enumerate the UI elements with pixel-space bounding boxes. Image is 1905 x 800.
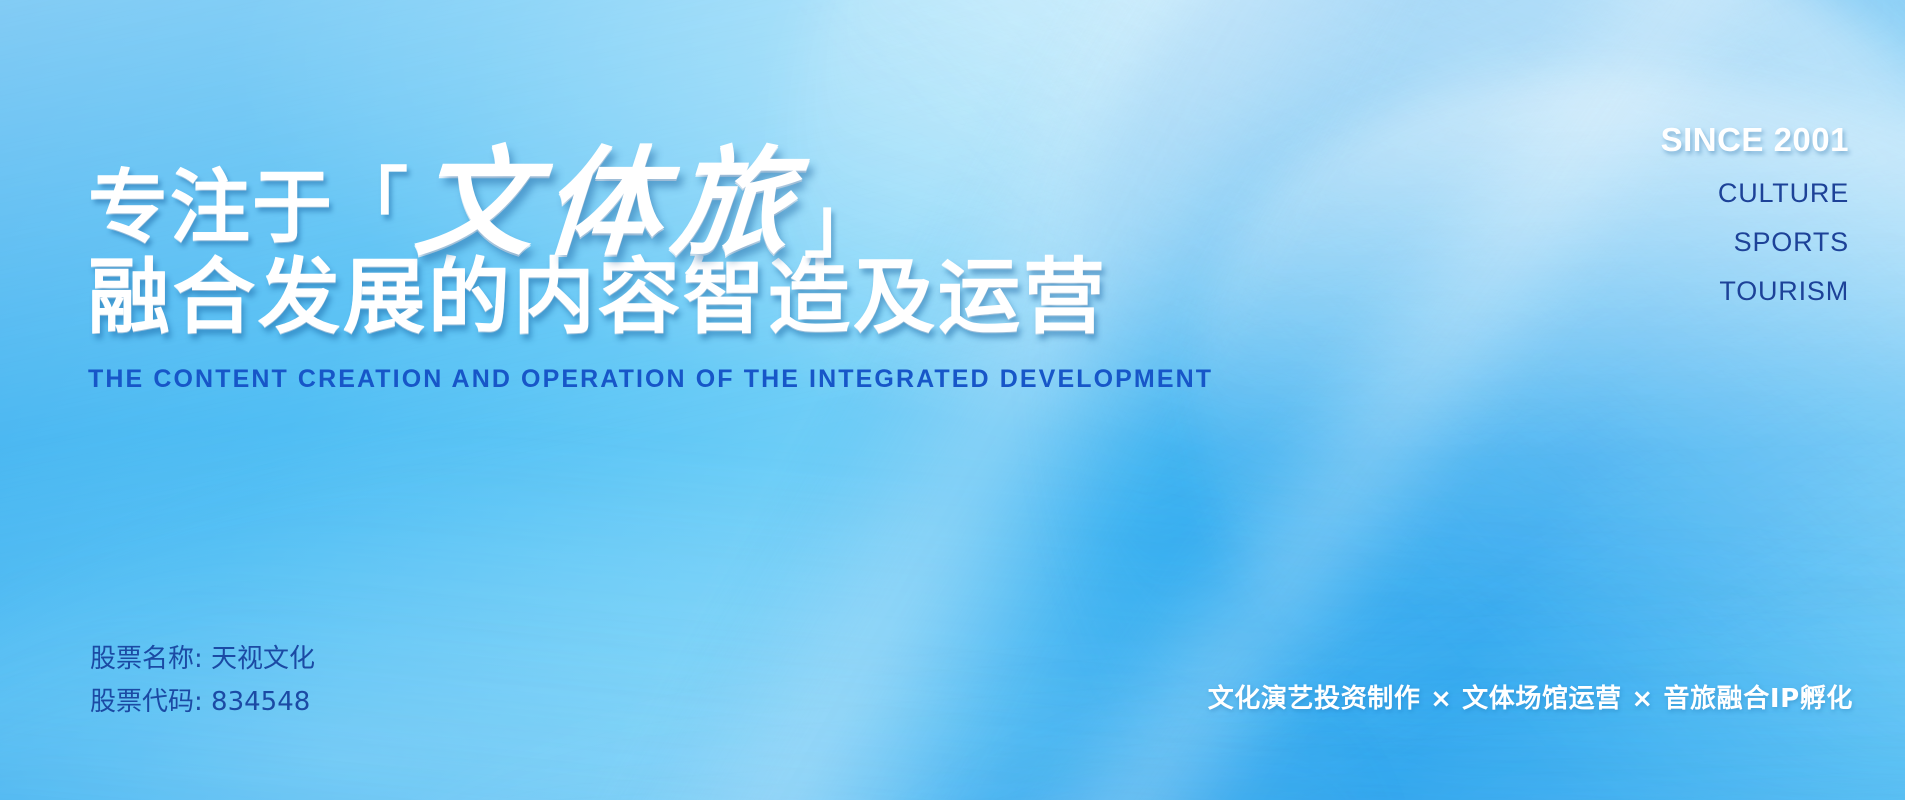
footer-tagline: 文化演艺投资制作 × 文体场馆运营 × 音旅融合IP孵化	[1208, 678, 1853, 715]
since-label: SINCE 2001	[1661, 120, 1849, 160]
stock-name-line: 股票名称: 天视文化	[90, 638, 315, 681]
headline-calligraphy: 文体旅	[412, 149, 804, 258]
category-sports: SPORTS	[1661, 226, 1849, 258]
stock-code-line: 股票代码: 834548	[90, 681, 315, 724]
promotional-banner: 专注于 「 文体旅 」 融合发展的内容智造及运营 THE CONTENT CRE…	[0, 0, 1905, 800]
corner-info-block: SINCE 2001 CULTURE SPORTS TOURISM	[1661, 120, 1849, 308]
bracket-close-glyph: 」	[804, 188, 878, 262]
headline-block: 专注于 「 文体旅 」 融合发展的内容智造及运营 THE CONTENT CRE…	[88, 128, 1213, 394]
banner-content: 专注于 「 文体旅 」 融合发展的内容智造及运营 THE CONTENT CRE…	[0, 0, 1905, 800]
headline-subtitle-en: THE CONTENT CREATION AND OPERATION OF TH…	[88, 365, 1213, 394]
category-culture: CULTURE	[1661, 177, 1849, 209]
category-tourism: TOURISM	[1661, 275, 1849, 307]
bracket-open-glyph: 「	[334, 166, 408, 240]
headline-prefix: 专注于	[88, 168, 334, 248]
headline-line-1: 专注于 「 文体旅 」	[88, 128, 1213, 248]
stock-info-block: 股票名称: 天视文化 股票代码: 834548	[90, 638, 315, 724]
